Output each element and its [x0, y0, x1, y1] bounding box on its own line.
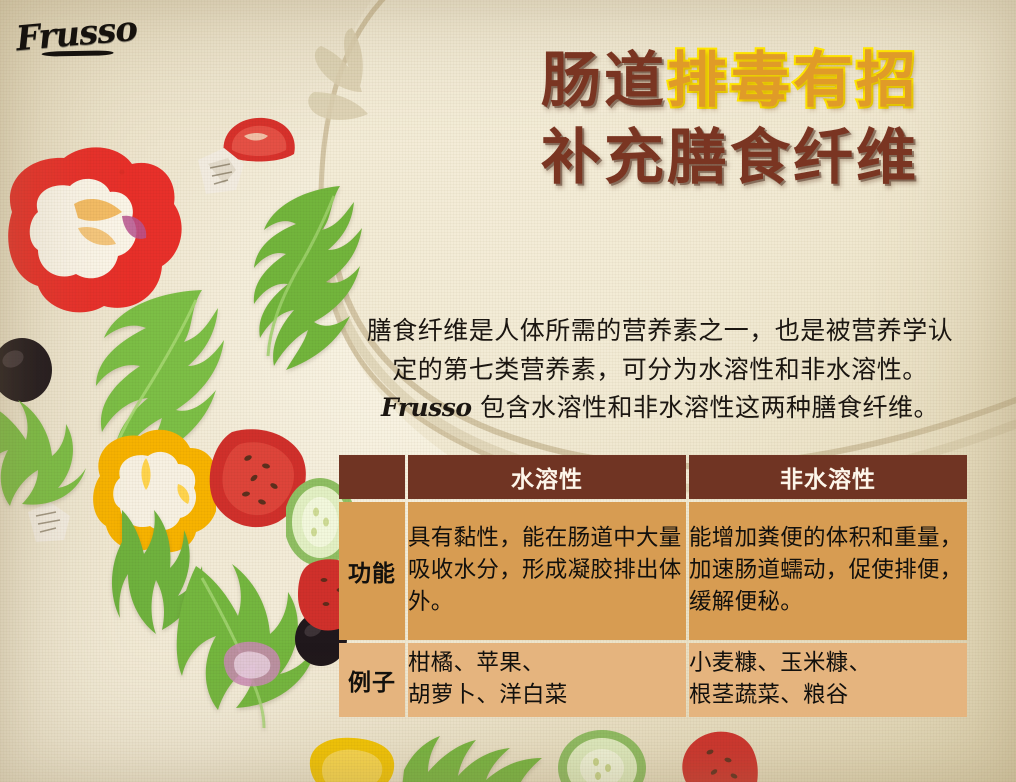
- intro-line-3: Frusso 包含水溶性和非水溶性这两种膳食纤维。: [336, 389, 984, 428]
- garnish-black-olive-left: [0, 334, 58, 404]
- table-row-examples: 例子 柑橘、苹果、胡萝卜、洋白菜 小麦糠、玉米糠、根茎蔬菜、粮谷: [339, 643, 967, 717]
- splash-drop-1: [344, 28, 363, 86]
- garnish-frisee-below-yellow-pepper: [110, 506, 210, 636]
- garnish-tomato-wedge-mid: [204, 422, 314, 538]
- intro-line-2: 定的第七类营养素，可分为水溶性和非水溶性。: [336, 351, 984, 390]
- headline-line-1-orange: 排毒有招: [667, 46, 919, 116]
- intro-paragraph: 膳食纤维是人体所需的营养素之一，也是被营养学认 定的第七类营养素，可分为水溶性和…: [336, 312, 984, 428]
- intro-line-1: 膳食纤维是人体所需的营养素之一，也是被营养学认: [336, 312, 984, 351]
- headline-line-2: 补充膳食纤维: [470, 125, 990, 192]
- garnish-yellow-bell-pepper-slice: [86, 424, 216, 554]
- table-body: 功能 具有黏性，能在肠道中大量吸收水分，形成凝胶排出体外。 能增加粪便的体积和重…: [339, 502, 967, 717]
- cell-examples-soluble: 柑橘、苹果、胡萝卜、洋白菜: [408, 643, 686, 717]
- splash-drop-2: [315, 46, 362, 92]
- headline-line-1-brown: 肠道: [541, 46, 667, 116]
- cell-function-soluble: 具有黏性，能在肠道中大量吸收水分，形成凝胶排出体外。: [408, 502, 686, 640]
- intro-line-3-rest: 包含水溶性和非水溶性这两种膳食纤维。: [472, 393, 939, 422]
- garnish-red-onion-slice: [216, 634, 286, 692]
- table-header-row: 水溶性 非水溶性: [339, 455, 967, 499]
- headline-line-1: 肠道排毒有招: [470, 48, 990, 115]
- intro-brand-word: Frusso: [381, 393, 471, 422]
- red-bell-pepper-slice: [8, 147, 181, 312]
- garnish-garlic-mid-left: [22, 498, 76, 550]
- cell-examples-insoluble: 小麦糠、玉米糠、根茎蔬菜、粮谷: [689, 643, 967, 717]
- garnish-yellow-pepper-bottom: [300, 736, 410, 782]
- splash-motif: [308, 28, 368, 120]
- cell-function-insoluble: 能增加粪便的体积和重量，加速肠道蠕动，促使排便，缓解便秘。: [689, 502, 967, 640]
- row-label-examples: 例子: [339, 643, 405, 717]
- table-corner-cell: [339, 455, 405, 499]
- brand-logo[interactable]: Frusso: [14, 9, 138, 61]
- garnish-frisee-bottom: [398, 726, 548, 782]
- garnish-tomato-wedge-bottom: [672, 726, 762, 782]
- fiber-comparison-table: 水溶性 非水溶性 功能 具有黏性，能在肠道中大量吸收水分，形成凝胶排出体外。 能…: [336, 452, 970, 720]
- garnish-frisee-lower-mid: [176, 556, 326, 736]
- garnish-garlic-top: [188, 142, 252, 204]
- brand-logo-underline-stroke: [41, 50, 114, 56]
- garnish-frisee-far-left-mid: [0, 396, 86, 506]
- garnish-tomato-slice-top: [218, 108, 302, 178]
- splash-drop-3: [308, 92, 368, 120]
- table-header-insoluble: 非水溶性: [689, 455, 967, 499]
- row-label-function: 功能: [339, 502, 405, 640]
- table-head: 水溶性 非水溶性: [339, 455, 967, 499]
- poster-root: Frusso 肠道排毒有招 补充膳食纤维 膳食纤维是人体所需的营养素之一，也是被…: [0, 0, 1016, 782]
- garnish-left-cluster: [0, 120, 312, 440]
- yellow-pepper-ring: [93, 430, 216, 553]
- table-row-function: 功能 具有黏性，能在肠道中大量吸收水分，形成凝胶排出体外。 能增加粪便的体积和重…: [339, 502, 967, 640]
- garnish-cucumber-slice-bottom: [556, 728, 648, 782]
- table-header-soluble: 水溶性: [408, 455, 686, 499]
- garnish-frisee-mid-left: [52, 282, 232, 482]
- headline-block: 肠道排毒有招 补充膳食纤维: [470, 48, 990, 192]
